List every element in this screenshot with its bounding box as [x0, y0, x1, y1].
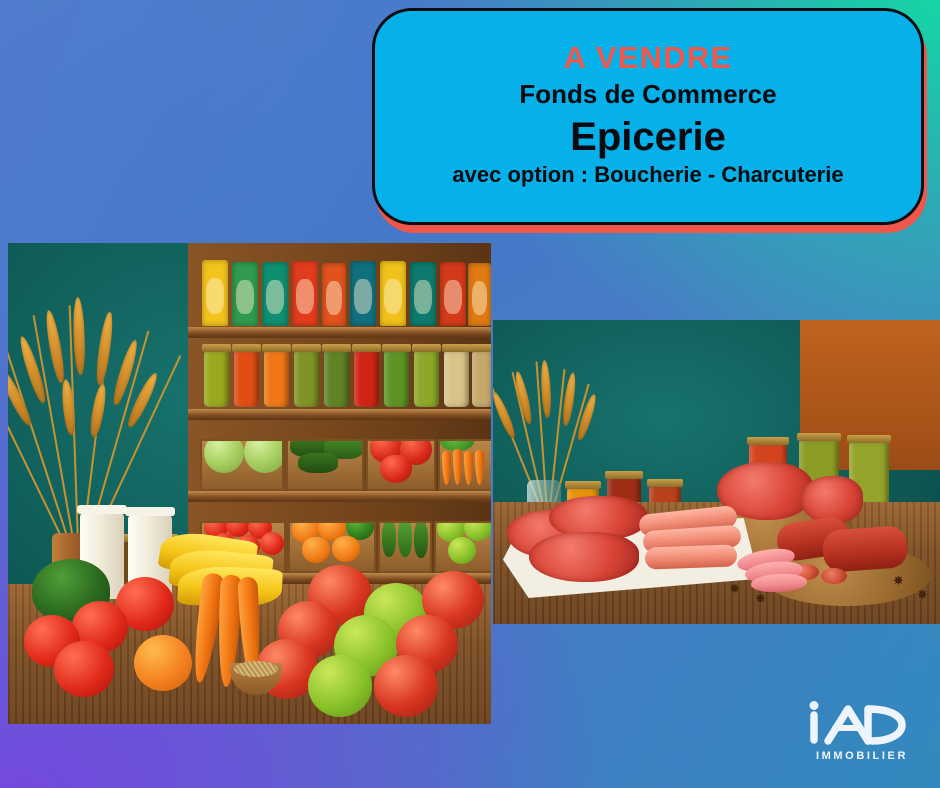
- star-anise-icon: ✸: [893, 574, 904, 587]
- salami-slice: [821, 568, 847, 584]
- headline-banner: A VENDRE Fonds de Commerce Epicerie avec…: [372, 8, 924, 225]
- produce-crate: [438, 439, 491, 491]
- sausage: [645, 544, 738, 569]
- grocery-packet: [322, 263, 346, 326]
- produce-crate: [434, 521, 491, 573]
- grocery-packet: [232, 262, 258, 326]
- preserve-jar: [444, 351, 469, 407]
- iad-logo-mark: [802, 700, 922, 746]
- grocery-packet: [380, 261, 406, 326]
- orange-fruit: [134, 635, 192, 691]
- grocery-packet: [292, 261, 318, 326]
- shelf-board: [188, 491, 491, 502]
- preserve-jar: [472, 351, 491, 407]
- grocery-packet: [350, 261, 376, 326]
- iad-logo: IMMOBILIER: [798, 700, 926, 762]
- grocery-packet: [410, 262, 436, 326]
- apple-red: [374, 655, 438, 717]
- grocery-packet: [468, 263, 491, 326]
- preserve-jar: [384, 351, 409, 407]
- banner-line-for-sale: A VENDRE: [564, 41, 733, 74]
- grocery-packet: [440, 262, 466, 326]
- beef-steak: [529, 532, 639, 582]
- preserve-jar: [264, 351, 289, 407]
- banner-line-type: Epicerie: [570, 115, 726, 159]
- produce-crate: [378, 521, 432, 573]
- grain-bowl-content: [234, 661, 278, 677]
- preserve-jar: [354, 351, 379, 407]
- tomato: [54, 641, 114, 697]
- produce-crate: [286, 439, 364, 491]
- iad-logo-subtitle: IMMOBILIER: [798, 750, 926, 762]
- preserve-jar: [414, 351, 439, 407]
- apple-green: [308, 655, 372, 717]
- star-anise-icon: ✸: [917, 588, 928, 601]
- grocery-store-photo: [8, 243, 491, 724]
- grocery-scene: [8, 243, 491, 724]
- shelf-board: [188, 409, 491, 420]
- star-anise-icon: ✸: [729, 582, 740, 595]
- butcher-charcuterie-photo: ✸ ✸ ✸ ✸: [493, 320, 940, 624]
- produce-crate: [200, 439, 284, 491]
- produce-crate: [366, 439, 436, 491]
- preserve-jar: [204, 351, 229, 407]
- preserve-jar: [294, 351, 319, 407]
- banner-line-business: Fonds de Commerce: [519, 80, 776, 109]
- banner-line-option: avec option : Boucherie - Charcuterie: [452, 163, 843, 188]
- butcher-scene: ✸ ✸ ✸ ✸: [493, 320, 940, 624]
- grocery-packet: [262, 262, 288, 326]
- salami: [822, 525, 909, 573]
- grocery-packet: [202, 260, 228, 326]
- shelf-board: [188, 327, 491, 338]
- star-anise-icon: ✸: [755, 592, 766, 605]
- preserve-jar: [324, 351, 349, 407]
- preserve-jar: [234, 351, 259, 407]
